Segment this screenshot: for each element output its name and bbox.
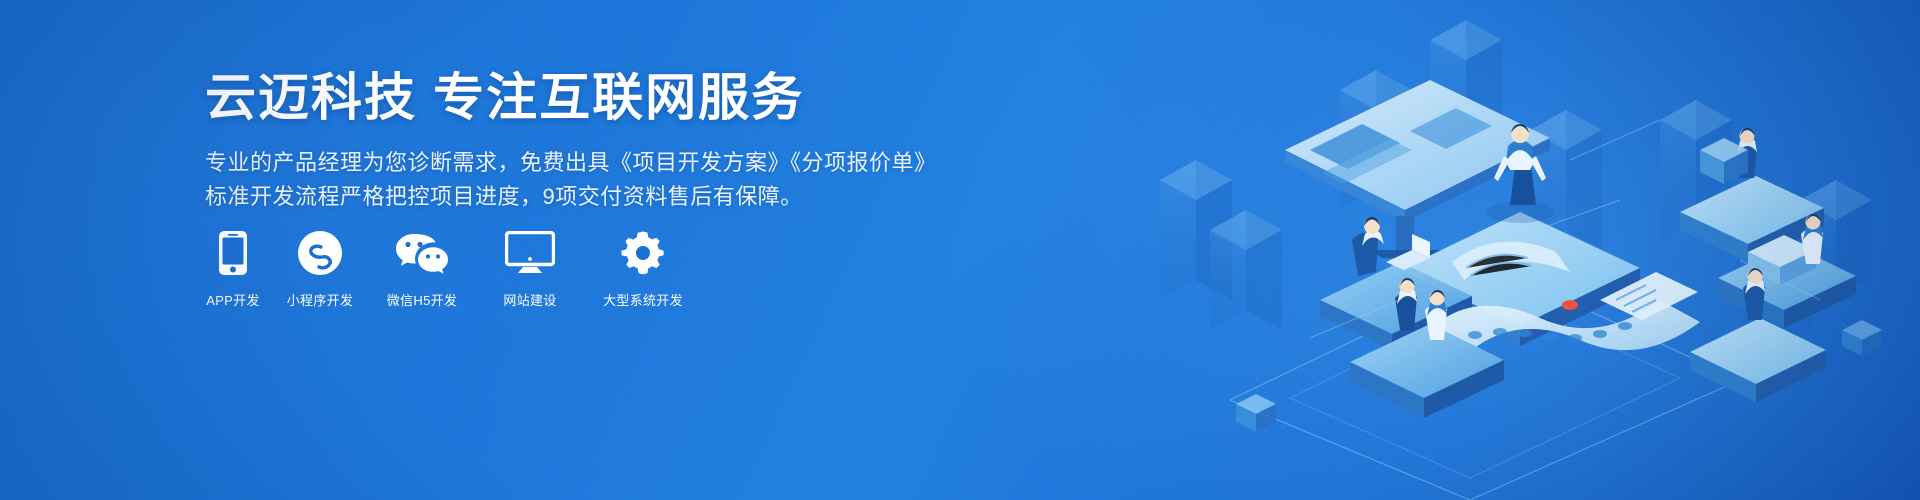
service-label-website: 网站建设 — [503, 290, 556, 309]
hero-subtitle-line-2: 标准开发流程严格把控项目进度，9项交付资料售后有保障。 — [205, 180, 803, 214]
gear-icon — [620, 228, 666, 278]
service-label-wechat: 微信H5开发 — [387, 290, 457, 309]
service-icon-list: APP开发 小程序开发 — [205, 228, 691, 309]
service-item-system[interactable]: 大型系统开发 — [595, 228, 691, 309]
mobile-phone-icon — [218, 228, 248, 278]
service-item-app[interactable]: APP开发 — [205, 228, 261, 309]
service-item-miniprogram[interactable]: 小程序开发 — [283, 228, 357, 309]
service-label-app: APP开发 — [206, 290, 260, 309]
service-label-system: 大型系统开发 — [603, 290, 683, 309]
service-label-miniprogram: 小程序开发 — [287, 290, 354, 309]
hero-subtitle-line-1: 专业的产品经理为您诊断需求，免费出具《项目开发方案》《分项报价单》 — [205, 146, 937, 180]
hero-banner: 云迈科技 专注互联网服务 专业的产品经理为您诊断需求，免费出具《项目开发方案》《… — [0, 0, 1920, 500]
wechat-icon — [395, 228, 449, 278]
hero-headline: 云迈科技 专注互联网服务 — [205, 72, 804, 123]
mini-program-icon — [297, 228, 343, 278]
pedestal-right-lower — [1690, 318, 1826, 402]
service-item-website[interactable]: 网站建设 — [487, 228, 573, 309]
monitor-icon — [505, 228, 555, 278]
hero-content: 云迈科技 专注互联网服务 专业的产品经理为您诊断需求，免费出具《项目开发方案》《… — [205, 0, 1105, 500]
service-item-wechat[interactable]: 微信H5开发 — [379, 228, 465, 309]
hero-illustration — [1100, 0, 1920, 500]
